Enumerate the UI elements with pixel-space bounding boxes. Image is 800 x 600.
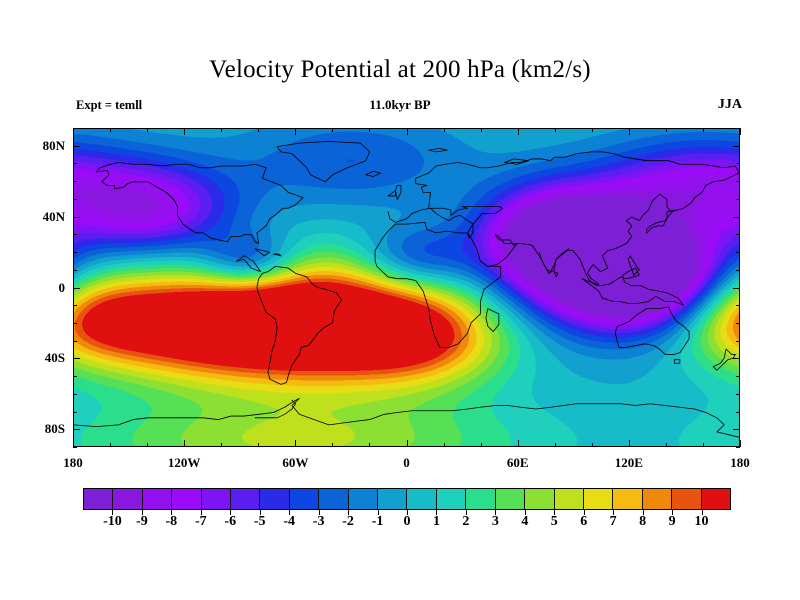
x-minor-tick-top — [147, 128, 148, 132]
x-tick-60E: 60E — [488, 455, 548, 471]
x-minor-tick-top — [369, 128, 370, 132]
x-minor-tick-top — [73, 128, 74, 135]
y-minor-tick — [73, 146, 80, 147]
x-tick-180: 180 — [710, 455, 770, 471]
x-minor-tick — [740, 440, 741, 447]
y-minor-tick — [73, 163, 77, 164]
y-minor-tick — [73, 217, 80, 218]
y-tick-40N: 40N — [19, 209, 65, 225]
x-minor-tick — [629, 440, 630, 447]
y-minor-tick — [73, 252, 77, 253]
colorbar-cell-9 — [349, 489, 378, 509]
figure-root: Velocity Potential at 200 hPa (km2/s) 11… — [0, 0, 800, 600]
x-tick-120E: 120E — [599, 455, 659, 471]
colorbar-cell-13 — [466, 489, 495, 509]
x-minor-tick-top — [592, 128, 593, 132]
colorbar-cell-6 — [260, 489, 289, 509]
y-minor-tick-right — [736, 341, 740, 342]
y-minor-tick — [73, 412, 77, 413]
y-minor-tick-right — [736, 270, 740, 271]
x-minor-tick-top — [518, 128, 519, 135]
colorbar-cell-21 — [702, 489, 730, 509]
colorbar-cell-1 — [113, 489, 142, 509]
x-minor-tick-top — [184, 128, 185, 135]
y-tick-80N: 80N — [19, 138, 65, 154]
colorbar-cell-8 — [319, 489, 348, 509]
x-tick-60W: 60W — [265, 455, 325, 471]
x-minor-tick-top — [110, 128, 111, 132]
y-minor-tick-right — [736, 305, 740, 306]
y-minor-tick — [73, 376, 77, 377]
colorbar-cell-17 — [584, 489, 613, 509]
y-minor-tick — [73, 199, 77, 200]
x-minor-tick-top — [444, 128, 445, 132]
colorbar-cell-3 — [172, 489, 201, 509]
x-minor-tick-top — [221, 128, 222, 132]
x-minor-tick-top — [332, 128, 333, 132]
y-minor-tick — [73, 341, 77, 342]
x-minor-tick-top — [258, 128, 259, 132]
x-minor-tick — [73, 440, 74, 447]
x-minor-tick — [592, 443, 593, 447]
y-minor-tick-right — [736, 252, 740, 253]
x-minor-tick-top — [666, 128, 667, 132]
colorbar-cell-7 — [290, 489, 319, 509]
y-minor-tick — [73, 394, 77, 395]
colorbar-cell-0 — [84, 489, 113, 509]
y-minor-tick-right — [733, 217, 740, 218]
y-minor-tick — [73, 288, 80, 289]
x-minor-tick-top — [555, 128, 556, 132]
x-minor-tick-top — [407, 128, 408, 135]
x-minor-tick — [407, 440, 408, 447]
x-minor-tick-top — [481, 128, 482, 132]
colorbar — [83, 488, 731, 510]
x-minor-tick — [332, 443, 333, 447]
x-minor-tick — [703, 443, 704, 447]
x-minor-tick — [147, 443, 148, 447]
x-minor-tick-top — [629, 128, 630, 135]
y-minor-tick — [73, 447, 77, 448]
x-minor-tick — [184, 440, 185, 447]
y-minor-tick-right — [736, 323, 740, 324]
y-minor-tick — [73, 429, 80, 430]
colorbar-cell-14 — [496, 489, 525, 509]
x-tick-180: 180 — [43, 455, 103, 471]
colorbar-cell-11 — [407, 489, 436, 509]
colorbar-cell-15 — [525, 489, 554, 509]
colorbar-cell-18 — [613, 489, 642, 509]
x-minor-tick — [110, 443, 111, 447]
x-minor-tick — [369, 443, 370, 447]
x-minor-tick — [258, 443, 259, 447]
y-minor-tick — [73, 358, 80, 359]
y-minor-tick-right — [736, 376, 740, 377]
y-minor-tick-right — [736, 163, 740, 164]
colorbar-cell-12 — [437, 489, 466, 509]
y-tick-0: 0 — [19, 280, 65, 296]
y-minor-tick — [73, 128, 77, 129]
colorbar-cell-16 — [555, 489, 584, 509]
colorbar-cell-10 — [378, 489, 407, 509]
x-minor-tick — [518, 440, 519, 447]
x-tick-0: 0 — [377, 455, 437, 471]
y-axis-labels: 80N40N040S80S — [0, 0, 800, 600]
x-minor-tick — [481, 443, 482, 447]
y-minor-tick-right — [736, 234, 740, 235]
colorbar-cell-19 — [643, 489, 672, 509]
y-minor-tick-right — [733, 429, 740, 430]
y-minor-tick-right — [736, 412, 740, 413]
x-minor-tick-top — [740, 128, 741, 135]
y-minor-tick — [73, 305, 77, 306]
x-minor-tick-top — [295, 128, 296, 135]
x-minor-tick — [555, 443, 556, 447]
y-minor-tick-right — [736, 199, 740, 200]
y-minor-tick-right — [736, 128, 740, 129]
y-minor-tick-right — [736, 394, 740, 395]
x-minor-tick — [221, 443, 222, 447]
x-minor-tick — [666, 443, 667, 447]
y-minor-tick-right — [733, 288, 740, 289]
colorbar-tick-10: 10 — [682, 514, 722, 530]
x-minor-tick — [295, 440, 296, 447]
colorbar-cell-2 — [143, 489, 172, 509]
y-minor-tick — [73, 270, 77, 271]
y-minor-tick-right — [736, 447, 740, 448]
y-minor-tick — [73, 323, 77, 324]
colorbar-cell-20 — [672, 489, 701, 509]
y-minor-tick-right — [736, 181, 740, 182]
colorbar-cell-4 — [202, 489, 231, 509]
x-minor-tick — [444, 443, 445, 447]
y-tick-40S: 40S — [19, 350, 65, 366]
y-minor-tick-right — [733, 358, 740, 359]
x-tick-120W: 120W — [154, 455, 214, 471]
y-tick-80S: 80S — [19, 421, 65, 437]
x-minor-tick-top — [703, 128, 704, 132]
y-minor-tick — [73, 181, 77, 182]
colorbar-cell-5 — [231, 489, 260, 509]
y-minor-tick — [73, 234, 77, 235]
y-minor-tick-right — [733, 146, 740, 147]
